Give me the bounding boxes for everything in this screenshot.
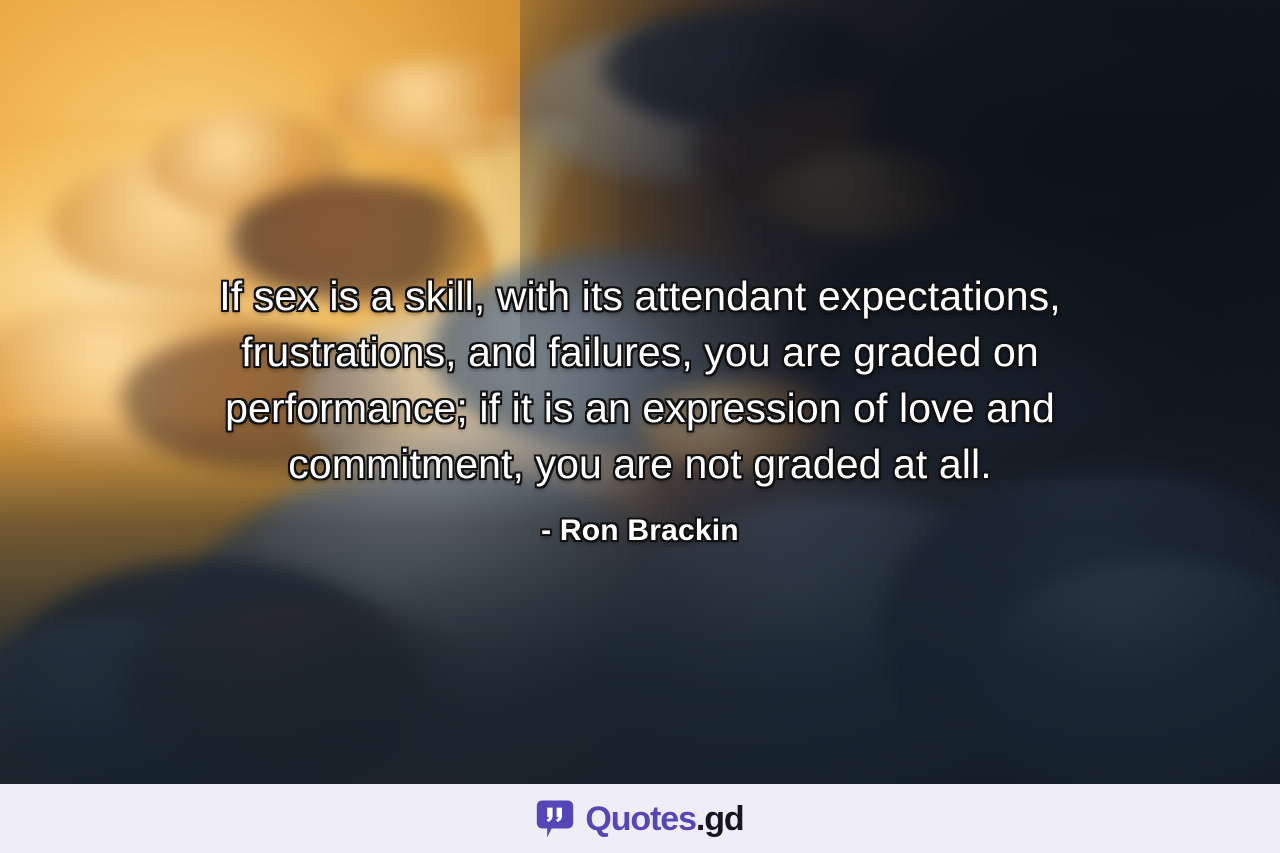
- quote-overlay: If sex is a skill, with its attendant ex…: [0, 268, 1280, 550]
- brand-logo-link[interactable]: Quotes.gd: [536, 799, 743, 839]
- brand-name-tld: .gd: [696, 802, 744, 836]
- brand-wordmark: Quotes.gd: [585, 802, 743, 836]
- quote-line: frustrations, and failures, you are grad…: [118, 324, 1162, 380]
- site-footer: Quotes.gd: [0, 784, 1280, 853]
- quote-image-page: If sex is a skill, with its attendant ex…: [0, 0, 1280, 853]
- quote-line: If sex is a skill, with its attendant ex…: [118, 268, 1162, 324]
- quote-bubble-icon: [536, 799, 574, 839]
- quote-line: commitment, you are not graded at all.: [118, 436, 1162, 492]
- background-photo: If sex is a skill, with its attendant ex…: [0, 0, 1280, 784]
- quote-author: - Ron Brackin: [118, 512, 1162, 550]
- quote-line: performance; if it is an expression of l…: [118, 380, 1162, 436]
- brand-name-primary: Quotes: [585, 802, 696, 836]
